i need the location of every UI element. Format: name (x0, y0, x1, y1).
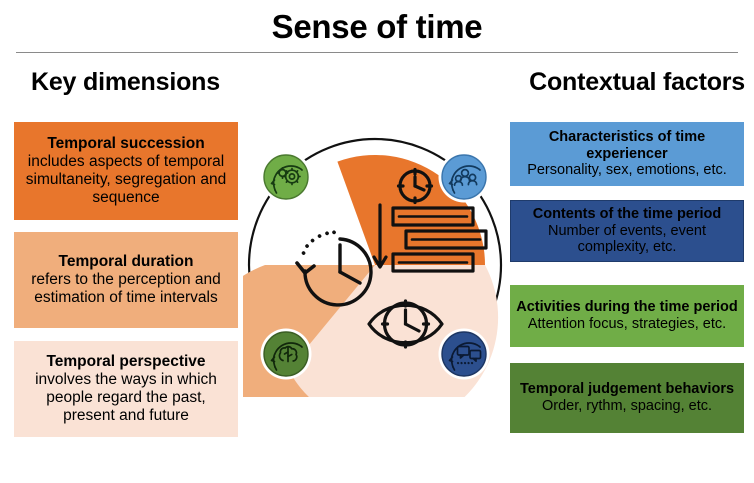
key-dimension-card-temporal-duration: Temporal duration refers to the percepti… (14, 232, 238, 328)
card-title: Characteristics of time experiencer (516, 129, 738, 163)
title-divider (16, 52, 738, 53)
card-description: involves the ways in which people regard… (20, 371, 232, 425)
card-title: Activities during the time period (516, 299, 738, 316)
head-gears-badge (261, 152, 312, 203)
card-title: Temporal perspective (46, 353, 205, 371)
card-description: Order, rythm, spacing, etc. (542, 398, 712, 415)
key-dimension-card-temporal-perspective: Temporal perspective involves the ways i… (14, 341, 238, 437)
contextual-factor-card-judgement: Temporal judgement behaviors Order, ryth… (510, 363, 744, 433)
contextual-factor-card-contents: Contents of the time period Number of ev… (510, 200, 744, 262)
card-description: Number of events, event complexity, etc. (517, 223, 737, 257)
card-title: Temporal succession (47, 135, 204, 153)
card-description: includes aspects of temporal simultaneit… (20, 153, 232, 207)
contextual-factor-card-characteristics: Characteristics of time experiencer Pers… (510, 122, 744, 186)
card-title: Temporal duration (59, 253, 194, 271)
page-title: Sense of time (0, 8, 754, 46)
card-title: Temporal judgement behaviors (520, 381, 734, 398)
card-description: Attention focus, strategies, etc. (528, 316, 726, 333)
sense-of-time-wheel (243, 133, 507, 397)
card-description: Personality, sex, emotions, etc. (527, 162, 727, 179)
head-people-badge (439, 152, 490, 203)
infographic-root: Sense of time Key dimensions Contextual … (0, 0, 754, 483)
head-speech-badge (439, 329, 490, 380)
left-column-heading: Key dimensions (31, 68, 220, 97)
key-dimension-card-temporal-succession: Temporal succession includes aspects of … (14, 122, 238, 220)
card-description: refers to the perception and estimation … (20, 271, 232, 307)
right-column-heading: Contextual factors (529, 68, 745, 97)
card-title: Contents of the time period (533, 206, 722, 223)
head-brain-badge (261, 329, 312, 380)
contextual-factor-card-activities: Activities during the time period Attent… (510, 285, 744, 347)
